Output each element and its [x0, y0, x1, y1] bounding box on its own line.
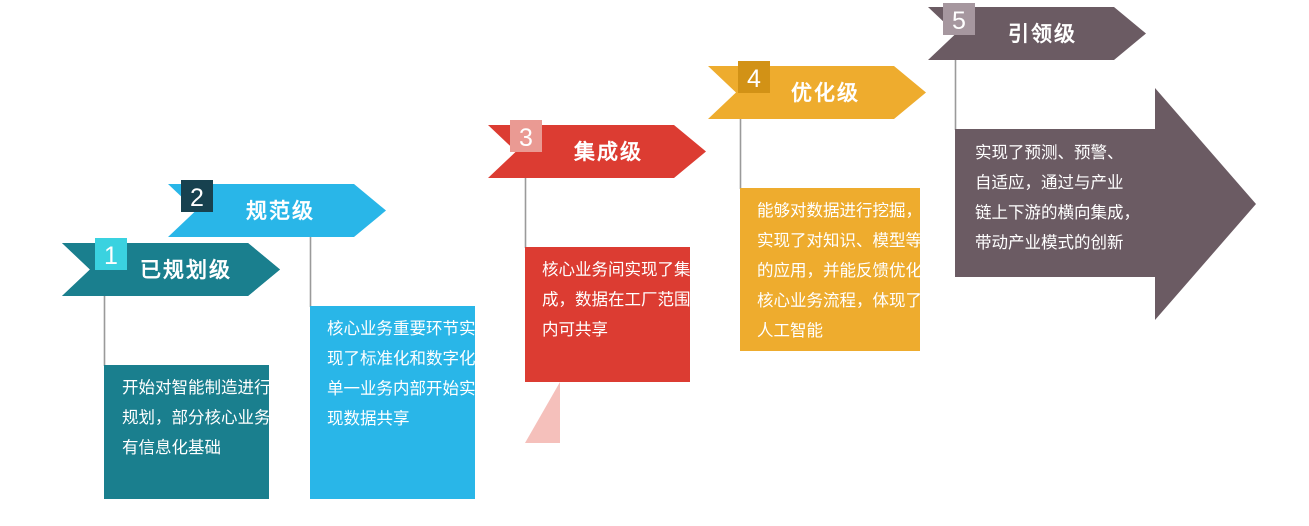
stage-3-body-fold — [525, 382, 560, 443]
diagram-canvas: 1 已规划级 开始对智能制造进行 规划，部分核心业务 有信息化基础 2 规范级 … — [0, 0, 1309, 526]
stage-4-line-4: 核心业务流程，体现了 — [757, 291, 922, 310]
stage-1-line-3: 有信息化基础 — [122, 438, 221, 457]
stage-2-title: 规范级 — [246, 199, 315, 223]
stage-5-line-1: 实现了预测、预警、 — [975, 143, 1124, 162]
stage-3-group[interactable]: 3 集成级 核心业务间实现了集 成，数据在工厂范围 内可共享 — [488, 120, 706, 443]
stage-3-title: 集成级 — [573, 140, 643, 164]
stage-4-group[interactable]: 4 优化级 能够对数据进行挖掘， 实现了对知识、模型等 的应用，并能反馈优化 核… — [708, 61, 927, 351]
stage-1-title: 已规划级 — [140, 258, 232, 282]
stage-2-line-3: 单一业务内部开始实 — [327, 379, 476, 398]
stage-4-line-1: 能够对数据进行挖掘， — [757, 201, 922, 220]
stage-2-line-1: 核心业务重要环节实 — [327, 319, 476, 338]
stage-4-line-2: 实现了对知识、模型等 — [757, 231, 922, 250]
stage-1-number: 1 — [104, 242, 118, 270]
stage-4-title: 优化级 — [791, 81, 860, 105]
stage-1-group[interactable]: 1 已规划级 开始对智能制造进行 规划，部分核心业务 有信息化基础 — [62, 238, 280, 499]
stage-3-number: 3 — [519, 124, 533, 152]
stage-5-title: 引领级 — [1008, 22, 1077, 46]
stage-5-line-4: 带动产业模式的创新 — [975, 233, 1124, 252]
stage-5-line-3: 链上下游的横向集成， — [975, 203, 1140, 222]
stage-1-line-2: 规划，部分核心业务 — [122, 408, 271, 427]
stage-4-number: 4 — [747, 65, 761, 93]
stage-1-line-1: 开始对智能制造进行 — [122, 378, 271, 397]
stage-5-number: 5 — [952, 7, 966, 35]
maturity-ladder-diagram: 1 已规划级 开始对智能制造进行 规划，部分核心业务 有信息化基础 2 规范级 … — [0, 0, 1309, 526]
stage-2-line-4: 现数据共享 — [327, 409, 410, 428]
stage-2-line-2: 现了标准化和数字化， — [327, 349, 492, 368]
stage-5-group[interactable]: 5 引领级 实现了预测、预警、 自适应，通过与产业 链上下游的横向集成， 带动产… — [928, 3, 1256, 320]
stage-3-line-3: 内可共享 — [542, 320, 608, 339]
stage-3-line-1: 核心业务间实现了集 — [542, 260, 691, 279]
stage-2-number: 2 — [190, 184, 204, 212]
stage-5-line-2: 自适应，通过与产业 — [975, 173, 1124, 192]
stage-4-line-5: 人工智能 — [757, 321, 823, 340]
stage-4-line-3: 的应用，并能反馈优化 — [757, 261, 922, 280]
stage-3-line-2: 成，数据在工厂范围 — [542, 290, 691, 309]
